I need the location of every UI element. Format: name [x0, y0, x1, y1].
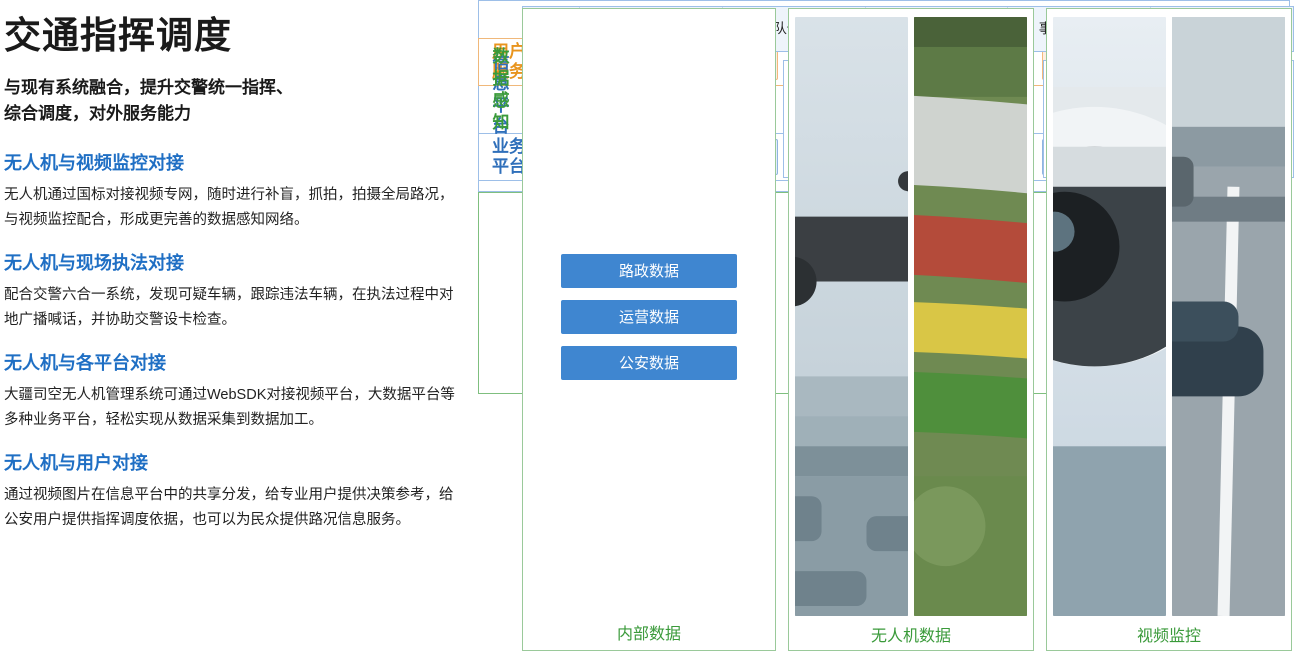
left-text-panel: 交通指挥调度 与现有系统融合，提升交警统一指挥、 综合调度，对外服务能力 无人机… — [0, 0, 470, 657]
section-body: 无人机通过国标对接视频专网，随时进行补盲，抓拍，拍摄全局路况，与视频监控配合，形… — [4, 183, 458, 233]
section-heading: 无人机与视频监控对接 — [4, 149, 458, 175]
layer-data-sensing: 数 据 感 知 路政数据 运营数据 公安数据 内部数据 — [478, 192, 1290, 394]
section-block: 无人机与用户对接 通过视频图片在信息平台中的共享分发，给专业用户提供决策参考，给… — [4, 449, 458, 533]
internal-data-box: 路政数据 运营数据 公安数据 内部数据 — [522, 8, 776, 651]
data-box-caption: 视频监控 — [1053, 618, 1285, 648]
section-heading: 无人机与用户对接 — [4, 449, 458, 475]
data-box-caption: 内部数据 — [533, 616, 765, 646]
section-heading: 无人机与各平台对接 — [4, 349, 458, 375]
section-block: 无人机与视频监控对接 无人机通过国标对接视频专网，随时进行补盲，抓拍，拍摄全局路… — [4, 149, 458, 233]
section-block: 无人机与现场执法对接 配合交警六合一系统，发现可疑车辆，跟踪违法车辆，在执法过程… — [4, 249, 458, 333]
architecture-diagram: 用户 服务 内部综合管理 对接各级部门 便民APP 业务 平台 指挥调度平台 综… — [478, 0, 1300, 657]
data-item[interactable]: 公安数据 — [561, 346, 737, 380]
page-subtitle: 与现有系统融合，提升交警统一指挥、 综合调度，对外服务能力 — [4, 75, 458, 128]
section-body: 配合交警六合一系统，发现可疑车辆，跟踪违法车辆，在执法过程中对地广播喊话，并协助… — [4, 283, 458, 333]
ptz-camera-photo — [1053, 17, 1166, 616]
drone-photo — [795, 17, 908, 616]
data-item[interactable]: 路政数据 — [561, 254, 737, 288]
section-block: 无人机与各平台对接 大疆司空无人机管理系统可通过WebSDK对接视频平台，大数据… — [4, 349, 458, 433]
section-heading: 无人机与现场执法对接 — [4, 249, 458, 275]
road-surveillance-photo — [1172, 17, 1285, 616]
data-box-caption: 无人机数据 — [795, 618, 1027, 648]
data-item[interactable]: 运营数据 — [561, 300, 737, 334]
aerial-road-photo — [914, 17, 1027, 616]
video-surveillance-box: 视频监控 — [1046, 8, 1292, 651]
page-title: 交通指挥调度 — [4, 16, 458, 57]
layer-data-sensing-label: 数 据 感 知 — [484, 46, 518, 134]
section-body: 通过视频图片在信息平台中的共享分发，给专业用户提供决策参考，给公安用户提供指挥调… — [4, 483, 458, 533]
section-body: 大疆司空无人机管理系统可通过WebSDK对接视频平台，大数据平台等多种业务平台，… — [4, 383, 458, 433]
drone-data-box: 无人机数据 — [788, 8, 1034, 651]
